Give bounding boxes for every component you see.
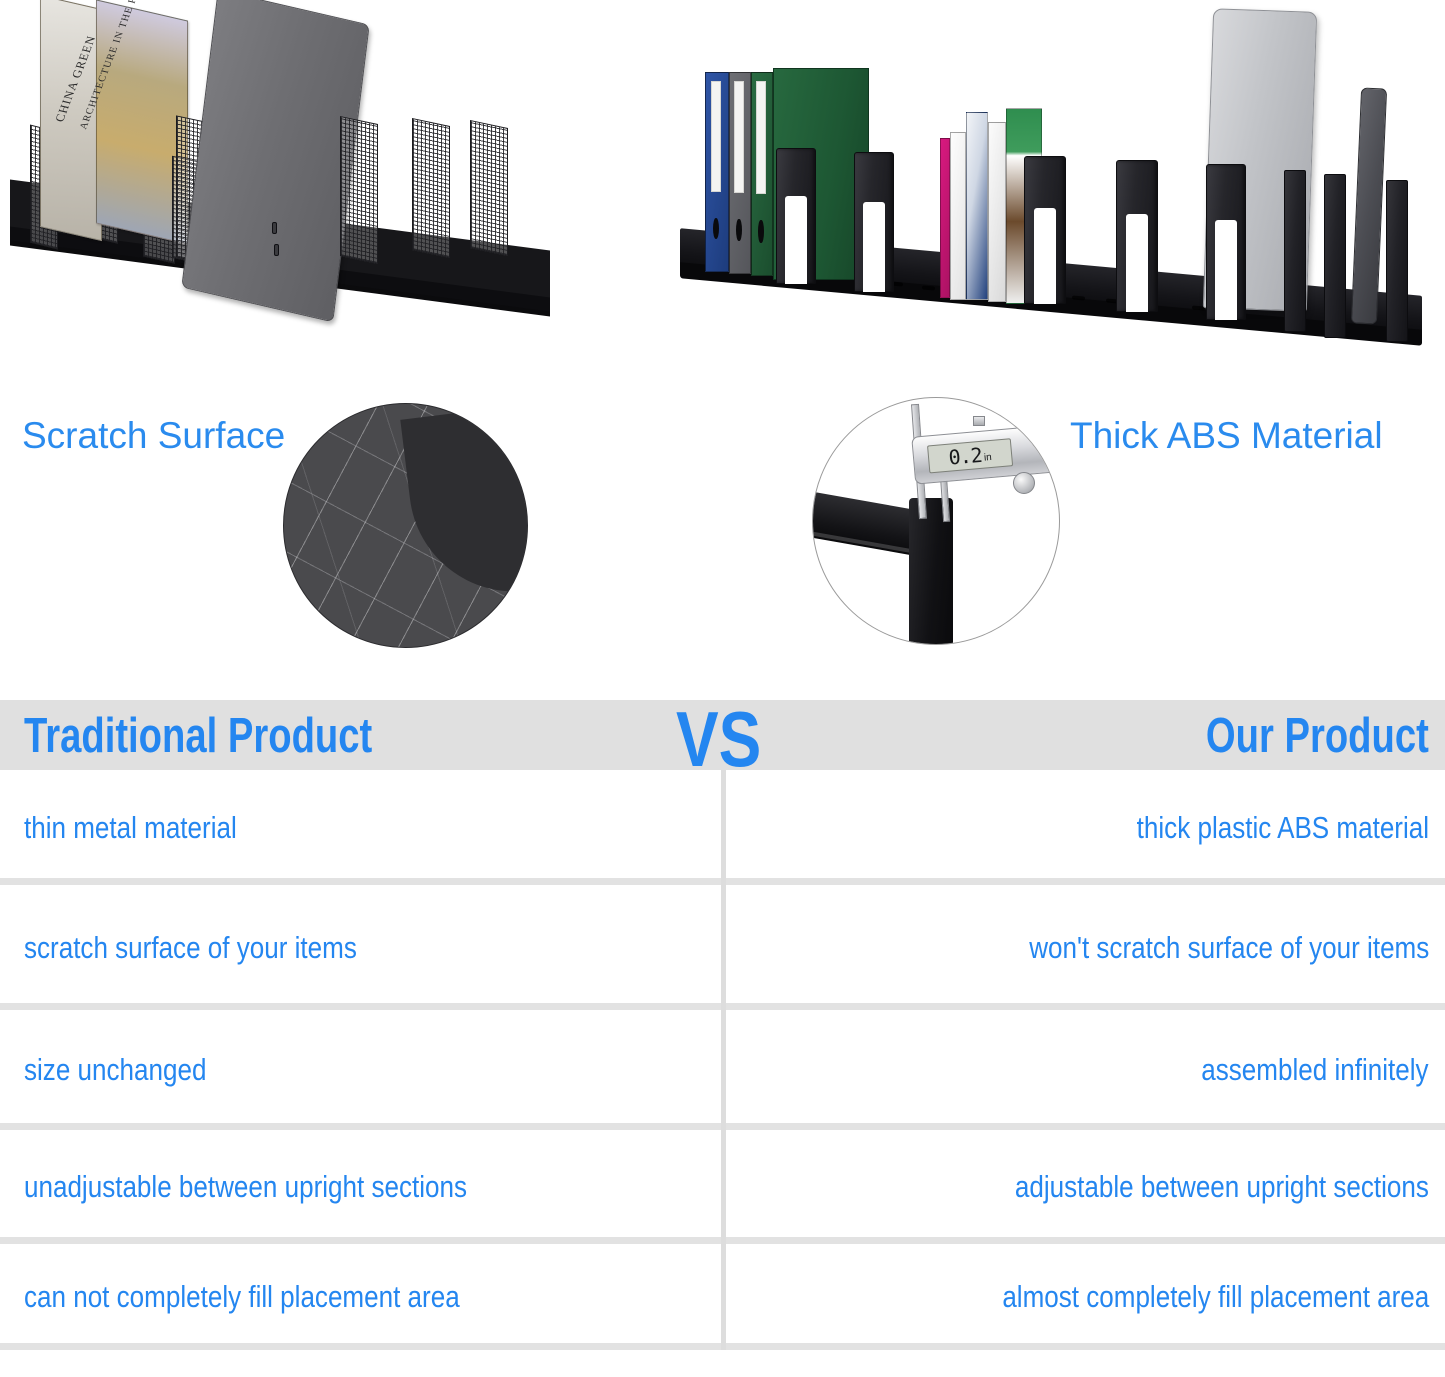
table-cell-text: can not completely fill placement area (24, 1279, 460, 1315)
callout-label-scratch-surface: Scratch Surface (22, 415, 285, 457)
table-cell-traditional: size unchanged (24, 1010, 704, 1130)
table-cell-text: thick plastic ABS material (1137, 810, 1429, 846)
binder-ring-hole (758, 220, 763, 242)
caliper-thumb-wheel (1013, 472, 1035, 494)
magazine-white-2 (988, 122, 1006, 302)
mesh-divider (470, 120, 508, 256)
caliper-reading-value: 0.2 (948, 443, 983, 470)
table-cell-traditional: can not completely fill placement area (24, 1244, 704, 1350)
table-cell-text: scratch surface of your items (24, 930, 357, 966)
table-cell-text: size unchanged (24, 1052, 206, 1088)
magazine-pink (940, 138, 950, 298)
dark-tablet (1351, 88, 1387, 325)
binder-spine-label (756, 81, 765, 194)
abs-divider-u (854, 152, 894, 292)
abs-divider-flat (1284, 170, 1306, 332)
caliper-reading-unit: in (984, 452, 993, 464)
mesh-divider (412, 118, 450, 258)
table-cell-text: thin metal material (24, 810, 237, 846)
caliper-lock-screw (973, 416, 985, 426)
table-cell-traditional: unadjustable between upright sections (24, 1130, 704, 1244)
binder-green (751, 72, 773, 276)
table-cell-text: adjustable between upright sections (1015, 1169, 1429, 1205)
binder-blue (705, 72, 729, 272)
binder-spine-label (734, 81, 743, 193)
binder-ring-hole (713, 218, 719, 240)
table-cell-ours: thick plastic ABS material (726, 770, 1429, 885)
header-vs-badge: VS (676, 700, 761, 778)
comparison-table-body: thin metal material thick plastic ABS ma… (0, 770, 1445, 1360)
scratch-surface-closeup (283, 403, 528, 648)
table-cell-text: assembled infinitely (1202, 1052, 1429, 1088)
table-cell-ours: assembled infinitely (726, 1010, 1429, 1130)
table-cell-traditional: thin metal material (24, 770, 704, 885)
table-cell-text: almost completely fill placement area (1002, 1279, 1429, 1315)
our-product-photo (672, 0, 1445, 380)
table-cell-traditional: scratch surface of your items (24, 885, 704, 1010)
table-cell-ours: adjustable between upright sections (726, 1130, 1429, 1244)
binder-ring-hole (736, 219, 741, 241)
abs-divider-u (1116, 160, 1158, 312)
callout-label-thick-abs-material: Thick ABS Material (1070, 415, 1383, 457)
product-comparison-infographic: CHINA GREEN ARCHITECTURE IN THE PAST (0, 0, 1445, 1377)
header-our-product: Our Product (1206, 708, 1429, 764)
comparison-table: Traditional Product Our Product VS thin … (0, 700, 1445, 1360)
magazine-blue (966, 112, 988, 300)
abs-thickness-closeup: 0.2 in (812, 397, 1060, 645)
abs-divider-flat (1386, 180, 1408, 342)
abs-bracket-horizontal (812, 485, 923, 557)
table-vertical-divider (721, 770, 726, 1350)
digital-caliper: 0.2 in (911, 423, 1060, 484)
abs-divider-u (1024, 156, 1066, 304)
laptop-port (272, 222, 277, 234)
feature-callout-row: Scratch Surface 0.2 in Thick ABS Materia… (0, 385, 1445, 680)
binder-gray (729, 72, 751, 274)
binder-spine-label (711, 81, 721, 192)
abs-divider-u (1206, 164, 1246, 320)
traditional-product-photo: CHINA GREEN ARCHITECTURE IN THE PAST (0, 0, 600, 340)
caliper-lcd-display: 0.2 in (927, 438, 1013, 473)
table-cell-ours: won't scratch surface of your items (726, 885, 1429, 1010)
header-traditional-product: Traditional Product (24, 708, 372, 764)
table-cell-ours: almost completely fill placement area (726, 1244, 1429, 1350)
product-photo-row: CHINA GREEN ARCHITECTURE IN THE PAST (0, 0, 1445, 385)
table-cell-text: unadjustable between upright sections (24, 1169, 467, 1205)
laptop-port (274, 244, 279, 256)
abs-divider-u (776, 148, 816, 284)
magazine-white (950, 132, 966, 300)
mesh-divider (340, 116, 378, 264)
abs-divider-flat (1324, 174, 1346, 338)
table-cell-text: won't scratch surface of your items (1029, 930, 1429, 966)
